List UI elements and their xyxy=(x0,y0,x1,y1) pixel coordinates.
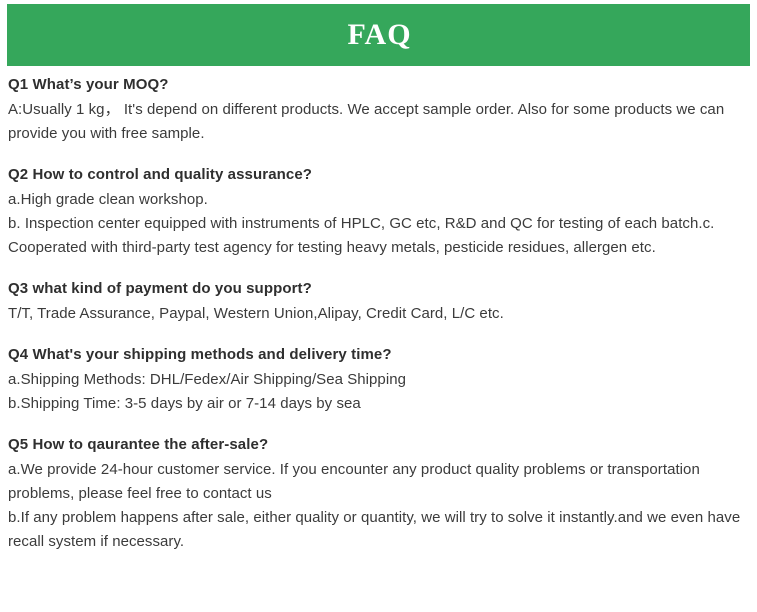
faq-answer-line: a.Shipping Methods: DHL/Fedex/Air Shippi… xyxy=(8,368,750,392)
faq-item: Q1 What’s your MOQ? A:Usually 1 kg， It's… xyxy=(8,74,750,146)
faq-question: Q4 What's your shipping methods and deli… xyxy=(8,344,750,365)
faq-question: Q1 What’s your MOQ? xyxy=(8,74,750,95)
faq-question: Q3 what kind of payment do you support? xyxy=(8,278,750,299)
faq-item: Q4 What's your shipping methods and deli… xyxy=(8,344,750,416)
faq-answer-line: T/T, Trade Assurance, Paypal, Western Un… xyxy=(8,302,750,326)
faq-item: Q5 How to qaurantee the after-sale? a.We… xyxy=(8,434,750,554)
faq-answer-line: b. Inspection center equipped with instr… xyxy=(8,212,750,260)
faq-answer-line: A:Usually 1 kg， It's depend on different… xyxy=(8,98,750,146)
faq-answer-line: a.High grade clean workshop. xyxy=(8,188,750,212)
faq-item: Q3 what kind of payment do you support? … xyxy=(8,278,750,326)
faq-question: Q2 How to control and quality assurance? xyxy=(8,164,750,185)
faq-question: Q5 How to qaurantee the after-sale? xyxy=(8,434,750,455)
faq-banner: FAQ xyxy=(7,4,750,66)
faq-item: Q2 How to control and quality assurance?… xyxy=(8,164,750,260)
faq-answer-line: b.If any problem happens after sale, eit… xyxy=(8,506,750,554)
faq-banner-title: FAQ xyxy=(347,20,411,50)
faq-answer-line: a.We provide 24-hour customer service. I… xyxy=(8,458,750,506)
faq-list: Q1 What’s your MOQ? A:Usually 1 kg， It's… xyxy=(8,74,750,554)
faq-page: FAQ Q1 What’s your MOQ? A:Usually 1 kg， … xyxy=(0,0,757,612)
faq-answer-line: b.Shipping Time: 3-5 days by air or 7-14… xyxy=(8,392,750,416)
